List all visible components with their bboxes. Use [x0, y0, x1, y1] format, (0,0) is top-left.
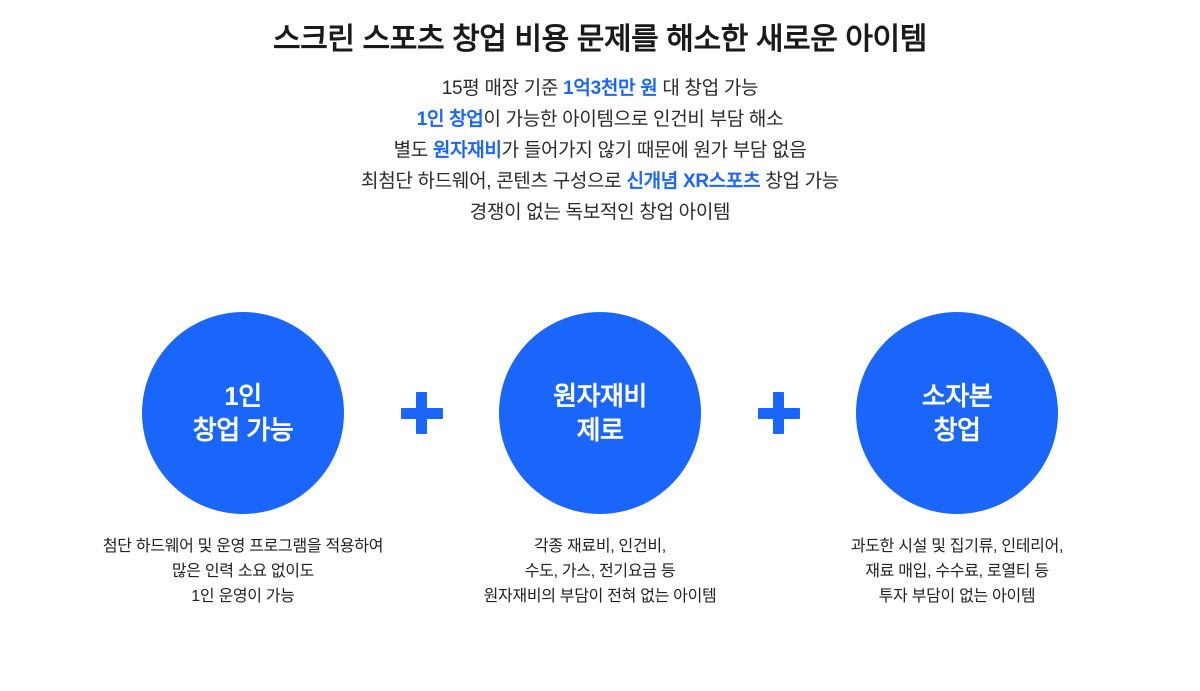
subtitle-text: 경쟁이 없는 독보적인 창업 아이템 [470, 202, 730, 223]
circle-label-line: 창업 [934, 413, 981, 447]
benefit-caption-row: 첨단 하드웨어 및 운영 프로그램을 적용하여많은 인력 소요 없이도1인 운영… [0, 534, 1200, 609]
circle-label-line: 1인 [224, 379, 261, 413]
subtitle-text: 창업 가능 [760, 171, 839, 192]
subtitle-line: 별도 원자재비가 들어가지 않기 때문에 원가 부담 없음 [0, 135, 1200, 166]
benefit-circle-3: 소자본창업 [856, 312, 1058, 514]
subtitle-line: 15평 매장 기준 1억3천만 원 대 창업 가능 [0, 73, 1200, 104]
subtitle-text: 별도 [394, 140, 433, 161]
subtitle-block: 15평 매장 기준 1억3천만 원 대 창업 가능1인 창업이 가능한 아이템으… [0, 73, 1200, 228]
caption-line: 원자재비의 부담이 전혀 없는 아이템 [484, 584, 717, 609]
infographic-page: 스크린 스포츠 창업 비용 문제를 해소한 새로운 아이템 15평 매장 기준 … [0, 0, 1200, 691]
benefit-caption-3: 과도한 시설 및 집기류, 인테리어,재료 매입, 수수료, 로열티 등투자 부… [856, 534, 1058, 609]
benefit-circle-1: 1인창업 가능 [142, 312, 344, 514]
header-section: 스크린 스포츠 창업 비용 문제를 해소한 새로운 아이템 15평 매장 기준 … [0, 0, 1200, 228]
subtitle-highlight: 1억3천만 원 [563, 78, 657, 99]
page-title: 스크린 스포츠 창업 비용 문제를 해소한 새로운 아이템 [0, 20, 1200, 59]
caption-line: 각종 재료비, 인건비, [534, 534, 666, 559]
caption-line: 수도, 가스, 전기요금 등 [525, 559, 676, 584]
circle-label-line: 원자재비 [553, 379, 647, 413]
plus-icon [758, 392, 800, 434]
caption-line: 첨단 하드웨어 및 운영 프로그램을 적용하여 [103, 534, 383, 559]
circle-label-line: 제로 [577, 413, 624, 447]
benefit-circle-2: 원자재비제로 [499, 312, 701, 514]
subtitle-line: 최첨단 하드웨어, 콘텐츠 구성으로 신개념 XR스포츠 창업 가능 [0, 166, 1200, 197]
subtitle-text: 대 창업 가능 [657, 78, 758, 99]
subtitle-text: 가 들어가지 않기 때문에 원가 부담 없음 [502, 140, 807, 161]
subtitle-text: 15평 매장 기준 [442, 78, 563, 99]
benefit-caption-1: 첨단 하드웨어 및 운영 프로그램을 적용하여많은 인력 소요 없이도1인 운영… [142, 534, 344, 609]
circle-shape: 소자본창업 [856, 312, 1058, 514]
caption-line: 1인 운영이 가능 [191, 584, 294, 609]
plus-separator [701, 312, 856, 514]
circle-label-line: 창업 가능 [193, 413, 293, 447]
circle-shape: 1인창업 가능 [142, 312, 344, 514]
subtitle-line: 경쟁이 없는 독보적인 창업 아이템 [0, 197, 1200, 228]
caption-line: 많은 인력 소요 없이도 [172, 559, 314, 584]
caption-line: 투자 부담이 없는 아이템 [879, 584, 1036, 609]
plus-icon [401, 392, 443, 434]
subtitle-line: 1인 창업이 가능한 아이템으로 인건비 부담 해소 [0, 104, 1200, 135]
caption-line: 과도한 시설 및 집기류, 인테리어, [851, 534, 1063, 559]
plus-separator [344, 312, 499, 514]
circle-shape: 원자재비제로 [499, 312, 701, 514]
subtitle-text: 최첨단 하드웨어, 콘텐츠 구성으로 [361, 171, 626, 192]
circle-label-line: 소자본 [922, 379, 992, 413]
subtitle-highlight: 원자재비 [433, 140, 502, 161]
benefit-caption-2: 각종 재료비, 인건비,수도, 가스, 전기요금 등원자재비의 부담이 전혀 없… [499, 534, 701, 609]
subtitle-highlight: 1인 창업 [417, 109, 484, 130]
subtitle-highlight: 신개념 XR스포츠 [626, 171, 760, 192]
subtitle-text: 이 가능한 아이템으로 인건비 부담 해소 [484, 109, 784, 130]
benefit-circle-row: 1인창업 가능원자재비제로소자본창업 [0, 312, 1200, 514]
caption-line: 재료 매입, 수수료, 로열티 등 [865, 559, 1049, 584]
